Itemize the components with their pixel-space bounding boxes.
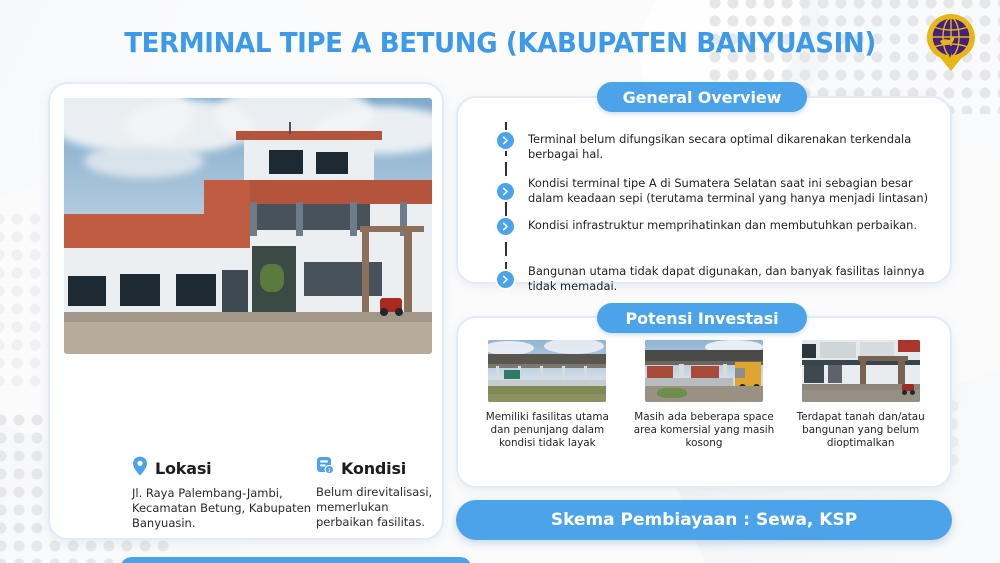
potensi-grid: Memiliki fasilitas utama dan penunjang d… — [476, 340, 932, 450]
potensi-investasi-card: Memiliki fasilitas utama dan penunjang d… — [456, 316, 952, 488]
map-pin-icon — [132, 456, 148, 481]
list-item: Terdapat tanah dan/atau bangunan yang be… — [789, 340, 932, 450]
lokasi-body: Jl. Raya Palembang-Jambi, Kecamatan Betu… — [132, 486, 312, 531]
kondisi-title: Kondisi — [341, 459, 406, 478]
list-item: Bangunan utama tidak dapat digunakan, da… — [478, 264, 936, 294]
commercial-space-area-photo — [645, 340, 763, 402]
list-item: Masih ada beberapa space area komersial … — [633, 340, 776, 450]
overview-item-text: Kondisi terminal tipe A di Sumatera Sela… — [528, 176, 936, 206]
lokasi-title: Lokasi — [155, 459, 211, 478]
overview-item-text: Kondisi infrastruktur memprihatinkan dan… — [528, 218, 917, 233]
slide-canvas: TERMINAL TIPE A BETUNG (KABUPATEN BANYUA… — [0, 0, 1000, 563]
list-item: Terminal belum difungsikan secara optima… — [478, 132, 936, 162]
potensi-caption: Memiliki fasilitas utama dan penunjang d… — [476, 411, 619, 450]
dot-pattern-middle-left — [0, 210, 50, 390]
chevron-right-circle-icon — [497, 183, 514, 200]
overview-list: Terminal belum difungsikan secara optima… — [478, 114, 936, 294]
open-canopy-facility-photo — [488, 340, 606, 402]
left-info-card: Lokasi Jl. Raya Palembang-Jambi, Kecamat… — [48, 82, 444, 540]
info-document-icon — [316, 456, 334, 480]
unused-land-and-building-photo — [802, 340, 920, 402]
ministry-of-transportation-globe-logo-icon — [922, 10, 980, 74]
chevron-right-circle-icon — [497, 132, 514, 149]
page-title: TERMINAL TIPE A BETUNG (KABUPATEN BANYUA… — [124, 26, 876, 59]
lokasi-block: Lokasi Jl. Raya Palembang-Jambi, Kecamat… — [132, 456, 312, 531]
list-item: Kondisi terminal tipe A di Sumatera Sela… — [478, 176, 936, 206]
kondisi-block: Kondisi Belum direvitalisasi, memerlukan… — [316, 456, 446, 530]
slide-header: TERMINAL TIPE A BETUNG (KABUPATEN BANYUA… — [0, 0, 1000, 84]
potensi-caption: Masih ada beberapa space area komersial … — [633, 411, 776, 450]
general-overview-card: Terminal belum difungsikan secara optima… — [456, 96, 952, 284]
kondisi-body: Belum direvitalisasi, memerlukan perbaik… — [316, 485, 446, 530]
overview-item-text: Bangunan utama tidak dapat digunakan, da… — [528, 264, 936, 294]
potensi-investasi-pill: Potensi Investasi — [597, 303, 807, 333]
list-item: Memiliki fasilitas utama dan penunjang d… — [476, 340, 619, 450]
chevron-right-circle-icon — [497, 218, 514, 235]
general-overview-pill: General Overview — [597, 82, 807, 112]
overview-item-text: Terminal belum difungsikan secara optima… — [528, 132, 936, 162]
stats-bar: Luas Tanah 60.710 m² Status Opera — [120, 557, 472, 563]
potensi-caption: Terdapat tanah dan/atau bangunan yang be… — [789, 411, 932, 450]
chevron-right-circle-icon — [497, 271, 514, 288]
list-item: Kondisi infrastruktur memprihatinkan dan… — [478, 218, 936, 244]
main-terminal-photo — [64, 98, 432, 354]
skema-pembiayaan-banner: Skema Pembiayaan : Sewa, KSP — [456, 500, 952, 540]
